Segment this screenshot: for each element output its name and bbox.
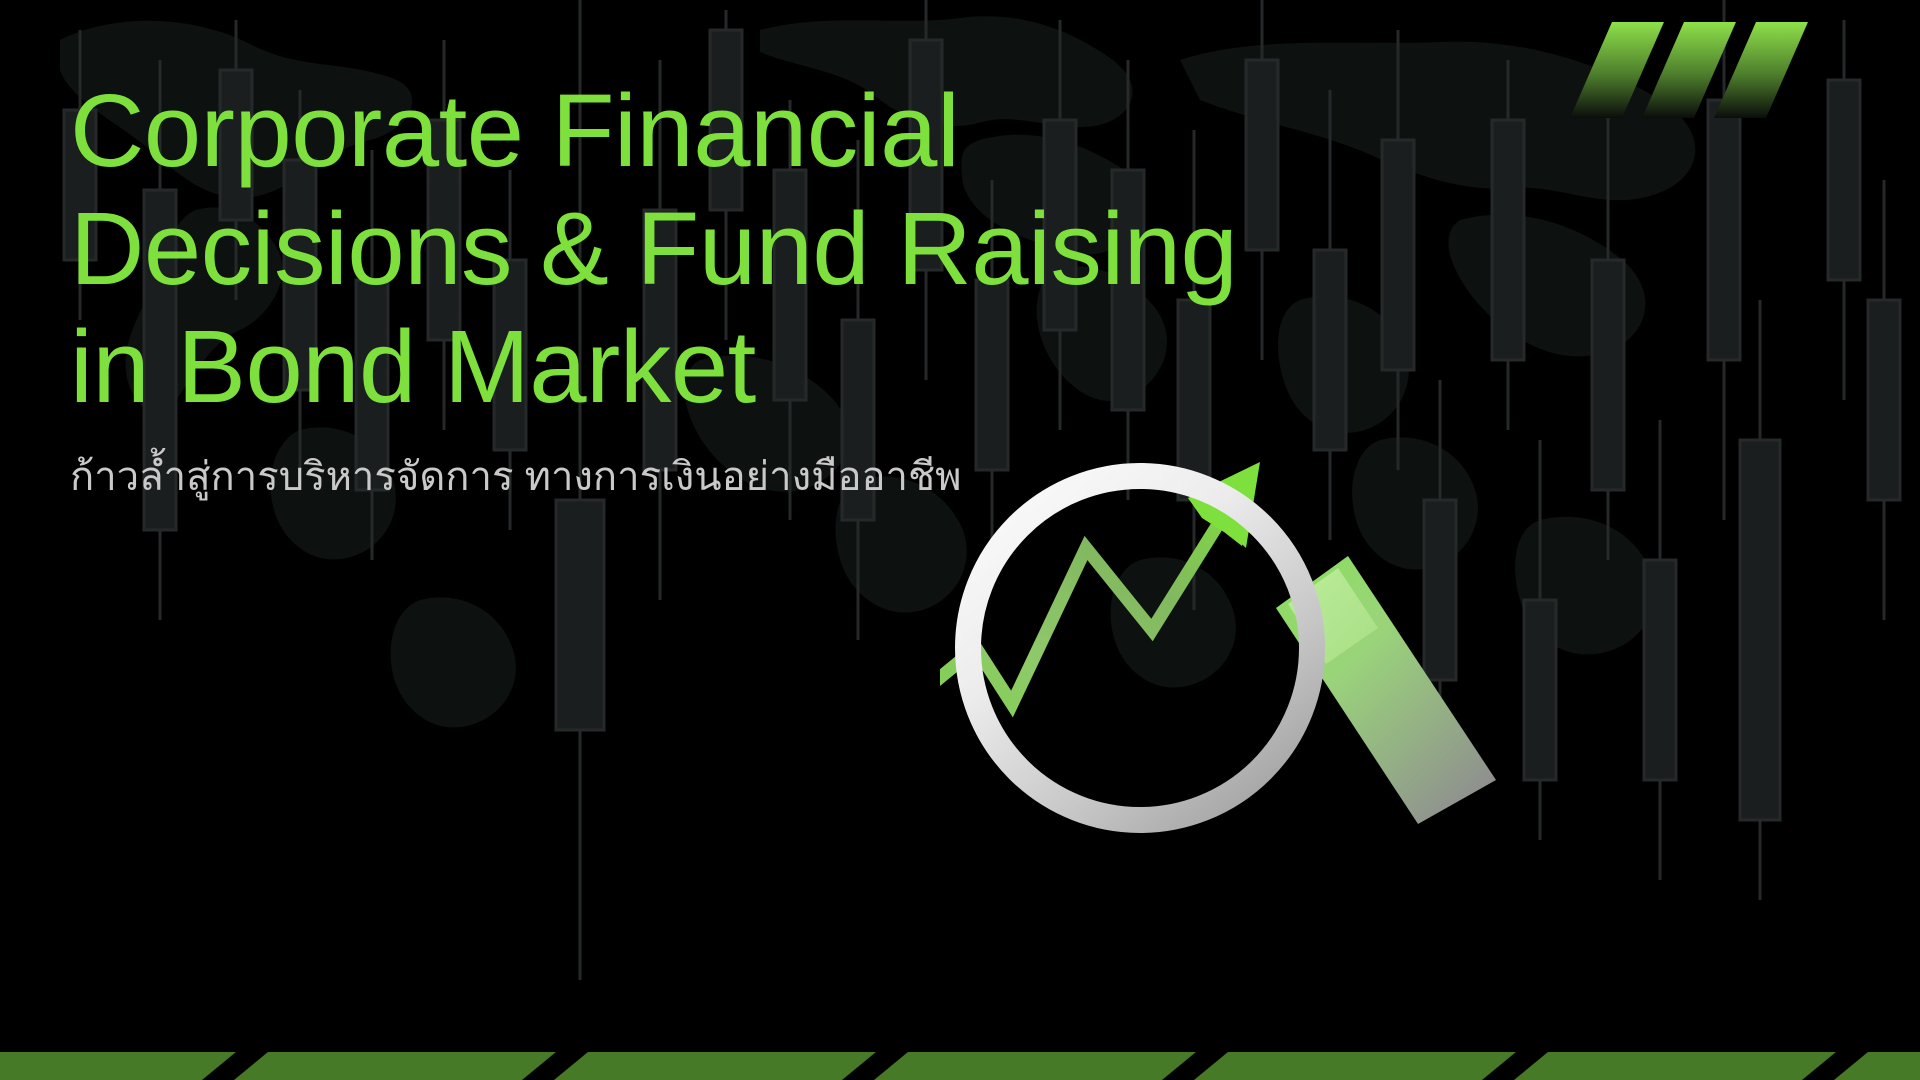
page-title-line-2: Decisions & Fund Raising (70, 190, 1310, 308)
page-subtitle: ก้าวล้ำสู่การบริหารจัดการ ทางการเงินอย่า… (70, 452, 1310, 502)
banner-root: Corporate Financial Decisions & Fund Rai… (0, 0, 1920, 1080)
corner-stripes-decoration (1560, 0, 1920, 220)
lens-ring (968, 476, 1312, 820)
page-title-line-1: Corporate Financial (70, 72, 1310, 190)
page-title-line-3: in Bond Market (70, 308, 1310, 426)
headline-block: Corporate Financial Decisions & Fund Rai… (70, 72, 1310, 502)
bottom-stripe-bar (0, 1052, 1920, 1080)
